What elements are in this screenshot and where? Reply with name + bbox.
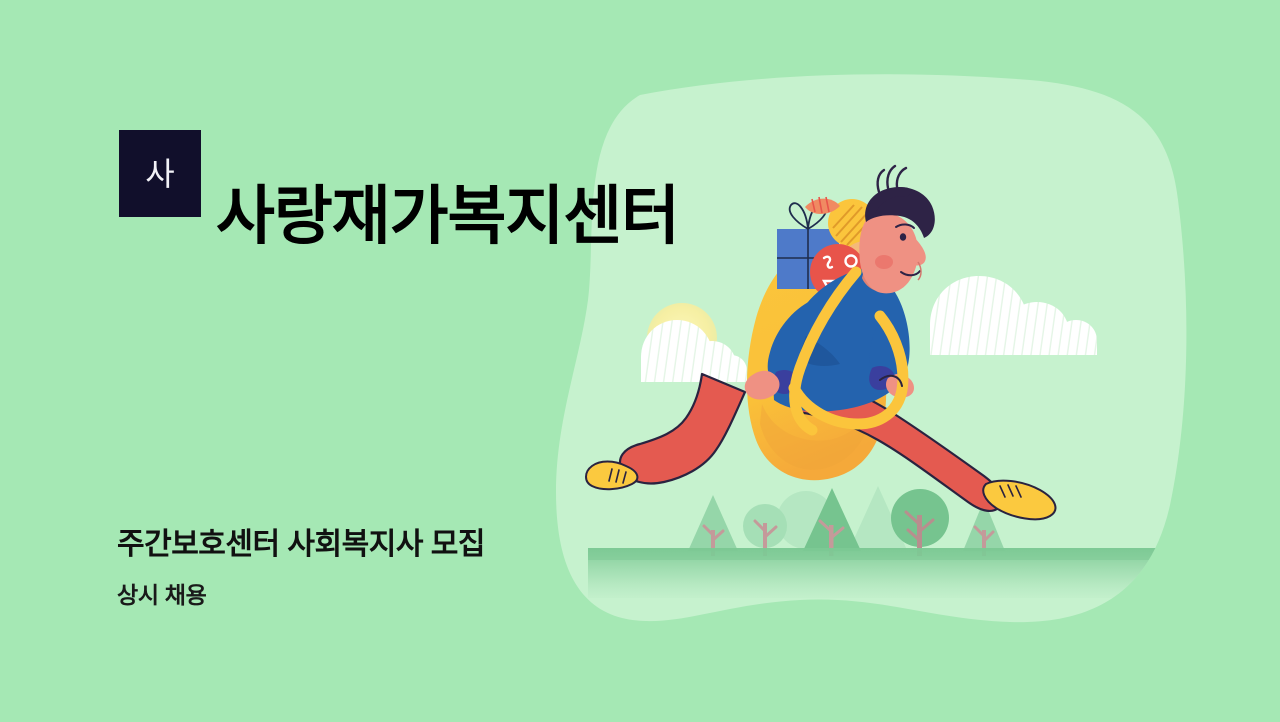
company-logo-badge: 사: [119, 130, 201, 217]
job-posting-title: 주간보호센터 사회복지사 모집: [117, 527, 485, 563]
ground: [588, 548, 1188, 598]
company-name-heading: 사랑재가복지센터: [216, 171, 679, 261]
company-logo-initial: 사: [145, 158, 174, 190]
running-delivery-man-illustration: [0, 0, 1280, 722]
employment-type-label: 상시 채용: [117, 582, 207, 610]
job-posting-card: 사 사랑재가복지센터 주간보호센터 사회복지사 모집 상시 채용: [0, 0, 1280, 722]
